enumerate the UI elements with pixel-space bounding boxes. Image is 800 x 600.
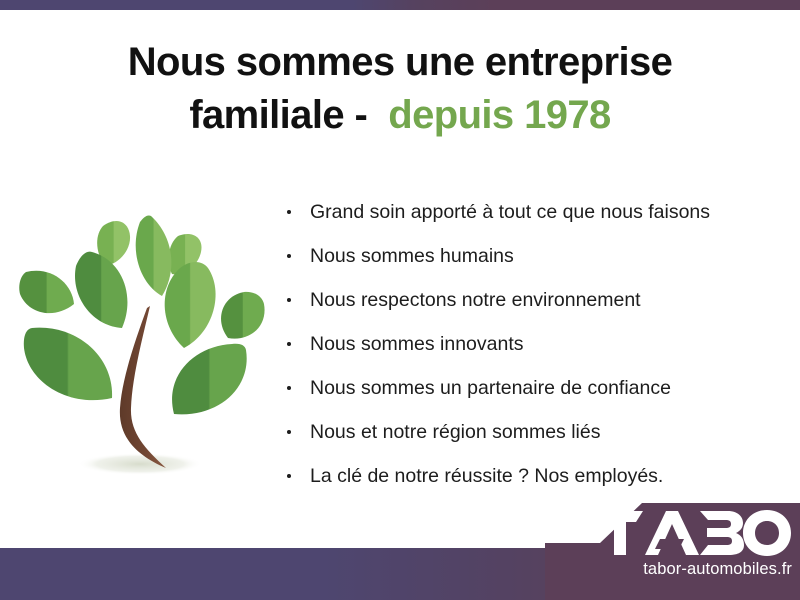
list-item-label: Nous respectons notre environnement [310,289,641,311]
list-item: La clé de notre réussite ? Nos employés. [284,454,784,498]
tree-leaf [75,252,127,328]
tree-illustration [18,192,270,488]
bullet-dot-icon [287,210,291,214]
tree-leaf [24,328,112,401]
bullet-dot-icon [287,386,291,390]
tree-leaf [19,271,74,313]
list-item-label: Grand soin apporté à tout ce que nous fa… [310,201,710,223]
tree-shadow [78,453,202,475]
slide-canvas: Nous sommes une entreprise familiale - d… [0,0,800,600]
page-title: Nous sommes une entreprise familiale - d… [40,36,760,142]
list-item-label: La clé de notre réussite ? Nos employés. [310,465,663,487]
list-item-label: Nous sommes humains [310,245,514,267]
page-title-line-2: familiale - depuis 1978 [40,89,760,142]
list-item-label: Nous sommes innovants [310,333,524,355]
tree-leaf [136,215,172,296]
page-title-line-2-black: familiale - [189,93,367,137]
bullet-dot-icon [287,342,291,346]
tree-leaf [165,262,216,348]
list-item: Grand soin apporté à tout ce que nous fa… [284,190,784,234]
bullet-dot-icon [287,430,291,434]
page-title-accent: depuis 1978 [388,93,610,137]
list-item-label: Nous et notre région sommes liés [310,421,600,443]
page-title-line-1: Nous sommes une entreprise [40,36,760,89]
list-item: Nous et notre région sommes liés [284,410,784,454]
top-accent-bar [0,0,800,10]
tree-trunk [120,306,166,468]
list-item-label: Nous sommes un partenaire de confiance [310,377,671,399]
brand-url: tabor-automobiles.fr [545,560,792,579]
tabor-wordmark-logo [596,509,792,557]
bullet-dot-icon [287,298,291,302]
bullet-dot-icon [287,474,291,478]
tree-leaf [172,344,247,415]
list-item: Nous sommes innovants [284,322,784,366]
list-item: Nous sommes un partenaire de confiance [284,366,784,410]
value-proposition-list: Grand soin apporté à tout ce que nous fa… [284,190,784,498]
list-item: Nous respectons notre environnement [284,278,784,322]
bullet-dot-icon [287,254,291,258]
list-item: Nous sommes humains [284,234,784,278]
tree-leaf [221,292,265,339]
